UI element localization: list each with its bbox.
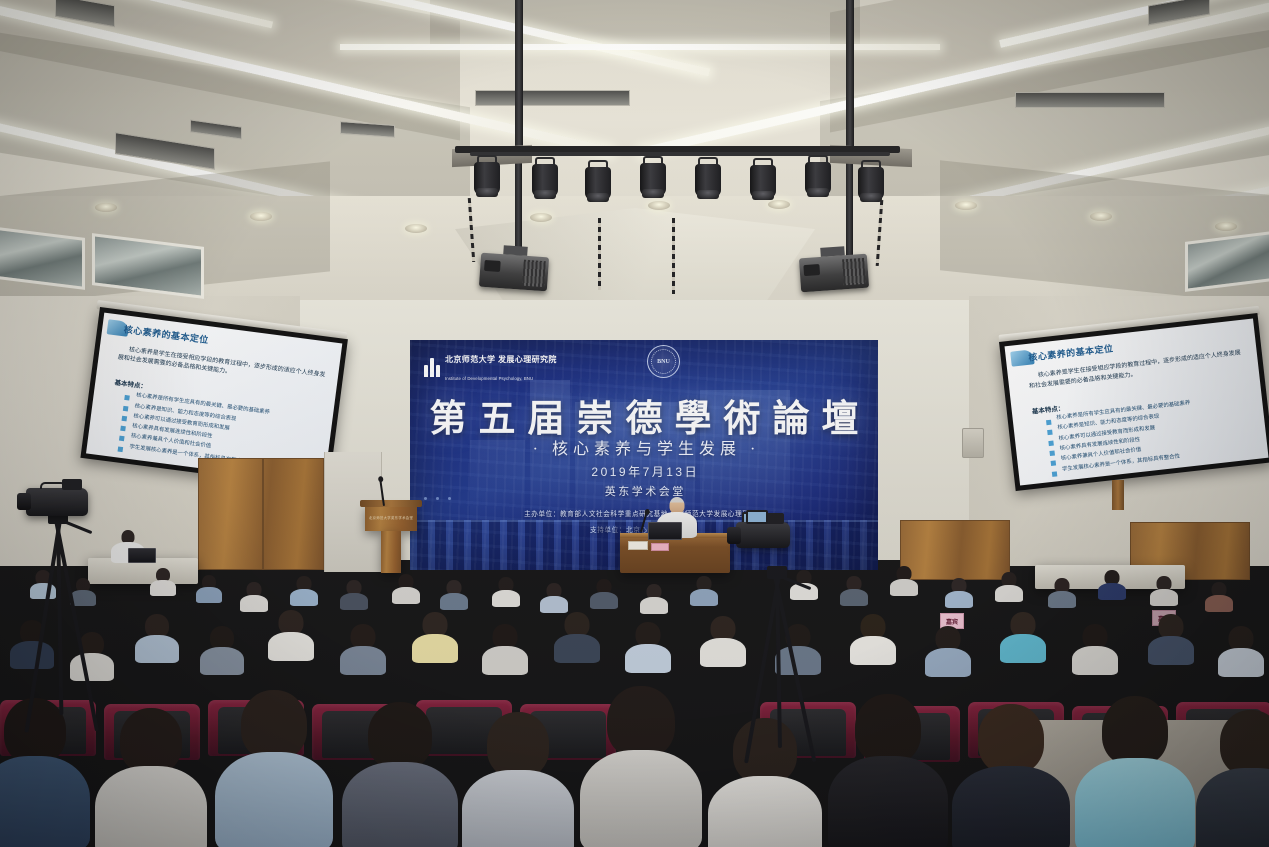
clerestory-window [0, 226, 85, 290]
audience-member-foreground [580, 686, 702, 847]
stage-light [585, 160, 611, 206]
audience-member-foreground [952, 704, 1070, 847]
projector-suspension-rod [846, 155, 853, 263]
recessed-downlight [1215, 222, 1237, 231]
tripod-left [14, 480, 104, 730]
audience-front-rows [0, 640, 1269, 847]
audience-member-foreground [1196, 710, 1269, 847]
air-vent [475, 90, 630, 106]
bnu-logo-mark [424, 358, 441, 377]
ceiling-projector-left [479, 253, 549, 292]
banner-subtitle: · 核心素养与学生发展 · [410, 435, 878, 459]
banner-institute-logo: 北京师范大学 发展心理研究院 Institute of Developmenta… [424, 349, 557, 385]
recessed-downlight [250, 212, 272, 221]
stage-light [532, 157, 558, 203]
tripod-right [735, 540, 825, 760]
stage-light [805, 155, 831, 201]
light-truss-suspension-rod [515, 0, 523, 160]
recessed-downlight [530, 213, 552, 222]
air-vent [1015, 92, 1165, 108]
lectern-plaque: 北京师范大学英东学术会堂 [369, 515, 413, 520]
wall-speaker [962, 428, 984, 458]
camcorder-left [26, 488, 88, 516]
recessed-downlight [955, 201, 977, 210]
audience-member-foreground [462, 712, 574, 847]
clerestory-window [1185, 230, 1269, 292]
bnu-seal-icon: BNU [647, 345, 680, 378]
banner-logo-cn: 北京师范大学 发展心理研究院 [445, 355, 557, 364]
conference-hall-photo: 核心素养的基本定位 核心素养是学生在接受相应学段的教育过程中，逐步形成的适应个人… [0, 0, 1269, 847]
speaker-laptop [648, 522, 682, 540]
lectern: 北京师范大学英东学术会堂 [365, 505, 417, 531]
slide-title: 核心素养的基本定位 [1028, 341, 1114, 363]
audience-member-foreground [95, 708, 207, 847]
banner-venue: 英东学术会堂 [410, 483, 878, 499]
recessed-downlight [95, 203, 117, 212]
banner-dot-row [424, 497, 451, 500]
bnu-seal-text: BNU [657, 359, 670, 365]
stage-light [474, 155, 500, 201]
slide-title: 核心素养的基本定位 [123, 322, 209, 346]
slide-bullet-list: 核心素养是所有学生应具有的最关键、最必要的基础素养 核心素养是知识、能力和态度等… [1045, 393, 1258, 478]
projection-screen-right: 核心素养的基本定位 核心素养是学生在接受相应学段的教育过程中，逐步形成的适应个人… [999, 313, 1269, 491]
audience-member-foreground [828, 694, 948, 847]
audience-member-foreground [342, 702, 458, 847]
ceiling-projector-right [799, 254, 869, 293]
ceiling-cable [598, 218, 601, 290]
slide-paragraph: 核心素养是学生在接受相应学段的教育过程中，逐步形成的适应个人终身发展和社会发展需… [117, 345, 326, 390]
audience-member-foreground [215, 690, 333, 847]
recessed-downlight [648, 201, 670, 210]
screen-support-post-right [1112, 480, 1124, 510]
tripod-pan-handle [782, 576, 811, 590]
stage-light [750, 158, 776, 204]
audience-member-foreground [1075, 696, 1195, 847]
banner-title: 第五届崇德學術論壇 [410, 388, 878, 442]
recessed-downlight [1090, 212, 1112, 221]
banner-date: 2019年7月13日 [410, 463, 878, 480]
stage-light [695, 157, 721, 203]
banner-logo-en: Institute of Developmental Psychology, B… [445, 376, 533, 381]
slide-subhead: 基本特点： [114, 377, 148, 391]
ceiling-cable [672, 218, 675, 294]
recessed-downlight [405, 224, 427, 233]
slide-right: 核心素养的基本定位 核心素养是学生在接受相应学段的教育过程中，逐步形成的适应个人… [1005, 319, 1269, 486]
stage-light [640, 156, 666, 202]
light-truss-suspension-rod [846, 0, 854, 160]
tripod-pan-handle [63, 520, 92, 534]
slide-subhead: 基本特点： [1031, 402, 1064, 416]
camcorder-right [736, 522, 790, 548]
